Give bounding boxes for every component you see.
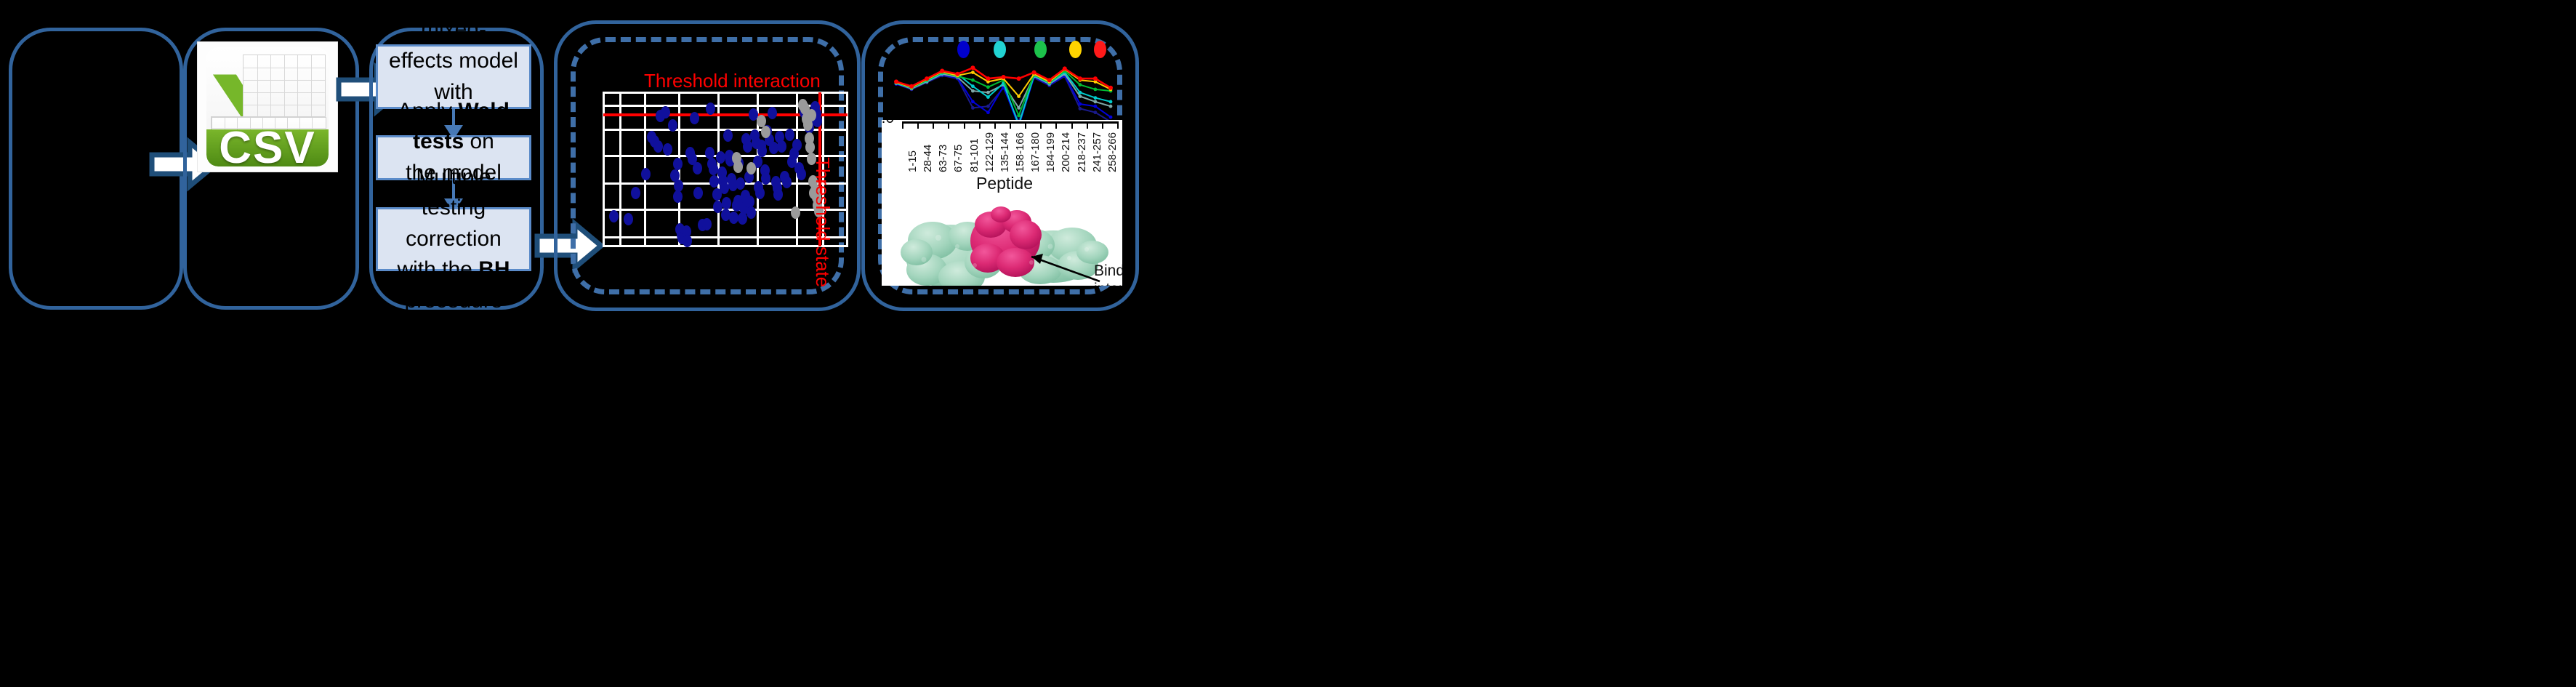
scatter-point (785, 129, 794, 141)
scatter-point (673, 190, 683, 203)
peptide-series-marker (1094, 105, 1098, 108)
binding-interface-line1: Binding (1094, 262, 1122, 281)
peptide-series-marker (986, 91, 990, 95)
scatter-point (782, 176, 792, 188)
peptide-series-marker (1108, 86, 1113, 90)
scatter-point (773, 188, 783, 201)
threshold-interaction-label: Threshold interaction (644, 70, 821, 92)
scatter-point (792, 139, 802, 151)
scatter-point (631, 187, 640, 199)
peptide-series-marker (1017, 95, 1021, 98)
peptide-axis-tick (948, 121, 949, 129)
threshold-state-label: Threshold state (811, 157, 834, 287)
csv-label-band: CSV (206, 129, 329, 166)
peptide-axis-tick (1055, 121, 1057, 129)
scatter-point (723, 129, 733, 142)
peptide-tick-label: 122-129 (983, 132, 996, 172)
peptide-series-marker (971, 106, 975, 110)
scatter-point (609, 210, 619, 222)
scatter-point (761, 172, 770, 185)
scatter-point (791, 206, 800, 219)
peptide-series-marker (1017, 76, 1021, 81)
peptide-axis-tick (1117, 121, 1119, 129)
threshold-scatter-plot: Threshold interaction Threshold state (554, 20, 853, 304)
peptide-series-marker (1094, 100, 1098, 104)
scatter-points-layer (605, 94, 846, 245)
peptide-axis-tick (902, 121, 903, 129)
scatter-point (673, 158, 683, 170)
peptide-tick-label: 200-214 (1060, 132, 1072, 172)
scatter-point (690, 112, 699, 124)
peptide-series-marker (1094, 88, 1098, 92)
scatter-point (716, 151, 725, 164)
peptide-tick-label: 158-166 (1014, 132, 1026, 172)
y-axis-first-tick-label: 0.0 (882, 120, 894, 127)
scatter-point (807, 109, 816, 121)
workflow-diagram: X CSV (0, 0, 2576, 687)
peptide-series-marker (971, 100, 975, 104)
peptide-series-marker (955, 72, 959, 76)
peptide-axis-tick (1010, 121, 1011, 129)
scatter-point (668, 119, 677, 132)
scatter-point (746, 206, 756, 219)
scatter-point (663, 143, 672, 156)
peptide-axis-tick (994, 121, 996, 129)
peptide-tick-label: 167-180 (1029, 132, 1042, 172)
scatter-point (683, 235, 692, 247)
peptide-series-marker (986, 95, 990, 99)
binding-interface-label: Binding interface (1094, 262, 1122, 286)
peptide-series-marker (1109, 100, 1113, 104)
peptide-series-marker (970, 65, 975, 70)
peptide-series-marker (1002, 75, 1006, 79)
peptide-tick-label: 63-73 (937, 145, 949, 172)
peptide-series-marker (1079, 103, 1082, 106)
peptide-axis-tick (1087, 121, 1088, 129)
protein-structure-card: 0.0 1-1528-4463-7367-7581-101122-129135-… (882, 120, 1122, 286)
peptide-series-marker (1017, 114, 1021, 118)
scatter-point (746, 162, 756, 174)
peptide-axis-tick (1040, 121, 1042, 129)
peptide-series-marker (1078, 76, 1082, 81)
scatter-point (641, 168, 651, 180)
peptide-line-chart (876, 38, 1119, 132)
peptide-series-marker (1063, 66, 1067, 71)
peptide-tick-label: 1-15 (906, 150, 919, 172)
peptide-series-marker (986, 105, 990, 108)
peptide-series-marker (986, 111, 990, 114)
scatter-point (709, 163, 718, 175)
peptide-tick-label: 277-284 (1122, 132, 1122, 172)
scatter-point (722, 197, 731, 209)
peptide-axis-tick (917, 121, 919, 129)
scatter-point (757, 145, 767, 157)
peptide-series-marker (1017, 106, 1021, 110)
peptide-series-marker (971, 84, 975, 88)
peptide-series-marker (971, 79, 975, 82)
peptide-series-marker (971, 71, 975, 74)
scatter-point (797, 168, 806, 180)
protein-surface-graphic (882, 193, 1122, 286)
peptide-series-marker (940, 69, 944, 73)
peptide-axis-tick (1025, 121, 1026, 129)
peptide-series-marker (1079, 83, 1082, 87)
multiple-testing-box: Multiple testing correction with the BH … (376, 207, 531, 271)
peptide-series-marker (986, 76, 990, 81)
peptide-series-marker (1094, 111, 1098, 114)
peptide-series-svg (876, 38, 1119, 132)
peptide-series-marker (1079, 91, 1082, 95)
peptide-series-marker (1094, 96, 1098, 100)
peptide-series-marker (1047, 78, 1052, 82)
peptide-axis-title: Peptide (976, 174, 1033, 193)
multiple-testing-text: Multiple testing correction with the BH … (385, 162, 522, 317)
peptide-series-marker (1032, 71, 1037, 75)
peptide-series-marker (1109, 116, 1113, 119)
peptide-tick-label: 218-237 (1076, 132, 1088, 172)
peptide-tick-label: 28-44 (922, 145, 934, 172)
peptide-axis-ticks (902, 121, 1117, 129)
scatter-point (768, 107, 777, 119)
peptide-tick-label: 258-266 (1106, 132, 1119, 172)
scatter-point (777, 140, 786, 153)
scatter-point (702, 218, 712, 230)
scatter-point (624, 213, 633, 225)
scatter-point (736, 177, 745, 190)
scatter-point (733, 161, 743, 173)
peptide-tick-label: 184-199 (1045, 132, 1057, 172)
peptide-series-marker (925, 76, 929, 81)
peptide-axis-tick (979, 121, 981, 129)
peptide-series-marker (1093, 76, 1098, 81)
peptide-series-marker (1109, 105, 1113, 108)
peptide-series-marker (909, 84, 914, 89)
scatter-point (755, 187, 765, 199)
peptide-tick-labels: 1-1528-4463-7367-7581-101122-129135-1441… (902, 130, 1117, 175)
scatter-point (720, 182, 729, 194)
scatter-point (693, 162, 702, 174)
peptide-series-marker (971, 89, 975, 93)
scatter-point (653, 140, 663, 153)
peptide-tick-label: 67-75 (952, 145, 965, 172)
scatter-point (805, 141, 815, 153)
csv-file-icon: X CSV (198, 42, 337, 172)
csv-label: CSV (219, 122, 315, 166)
peptide-axis-tick (933, 121, 934, 129)
peptide-tick-label: 241-257 (1091, 132, 1103, 172)
scatter-point (674, 180, 683, 192)
peptide-axis-tick (1102, 121, 1103, 129)
peptide-axis-tick (1071, 121, 1073, 129)
peptide-axis-tick (964, 121, 965, 129)
peptide-series-marker (1079, 95, 1082, 98)
binding-interface-line2: interface (1094, 281, 1122, 286)
scatter-point (661, 106, 670, 118)
peptide-tick-label: 135-144 (999, 132, 1011, 172)
peptide-series-marker (986, 85, 990, 89)
scatter-point (693, 187, 703, 199)
scatter-point (706, 103, 715, 115)
peptide-tick-label: 81-101 (968, 138, 981, 172)
peptide-series-marker (1079, 107, 1082, 111)
peptide-series-marker (894, 79, 898, 84)
